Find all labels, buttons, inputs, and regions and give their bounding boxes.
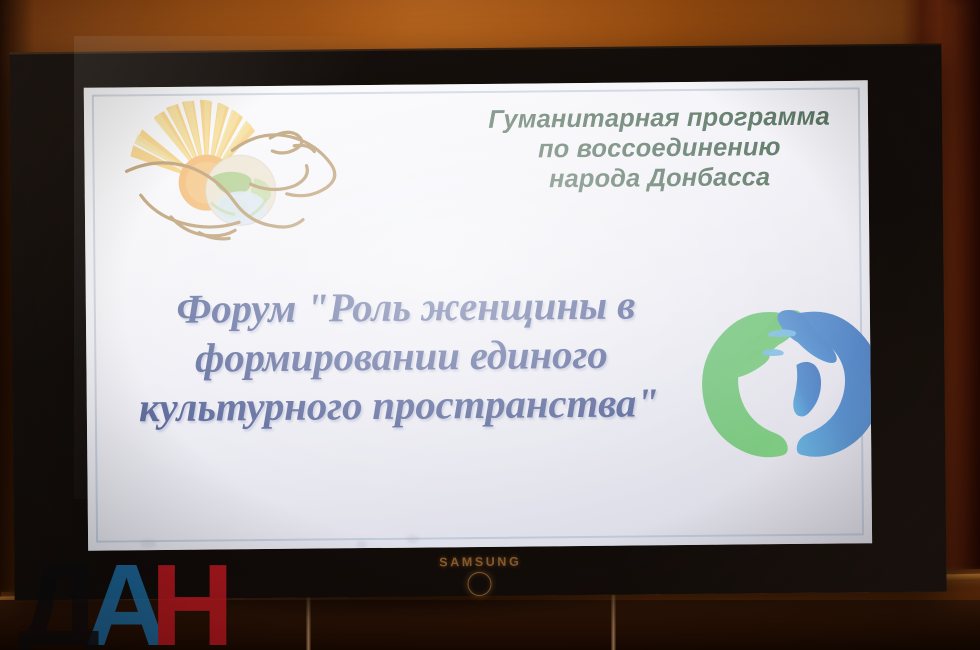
- agency-watermark: ДАН: [18, 556, 228, 650]
- power-ring-icon[interactable]: [467, 572, 491, 596]
- slide-title: Форум "Роль женщины в формировании едино…: [108, 280, 689, 432]
- hands-cradling-globe-logo: [120, 97, 349, 251]
- watermark-letter-n: Н: [150, 556, 228, 650]
- title-line-3: культурного пространства": [109, 378, 689, 432]
- tv-screen: Гуманитарная программа по воссоединению …: [84, 80, 872, 551]
- slide-header-text: Гуманитарная программа по воссоединению …: [470, 102, 849, 195]
- screen-smudge: [406, 535, 419, 544]
- presentation-slide: Гуманитарная программа по воссоединению …: [84, 80, 872, 551]
- curtain-fold: [948, 0, 974, 650]
- photo-scene: Гуманитарная программа по воссоединению …: [0, 0, 980, 650]
- watermark-letter-d: Д: [18, 556, 95, 650]
- two-hands-circle-emblem: [696, 288, 872, 482]
- tv-brand-label: SAMSUNG: [439, 555, 521, 570]
- header-line-2: по воссоединению: [470, 132, 848, 165]
- screen-smudge: [356, 540, 367, 549]
- title-line-1: Форум "Роль женщины в: [108, 280, 688, 334]
- television: Гуманитарная программа по воссоединению …: [9, 44, 946, 601]
- header-line-1: Гуманитарная программа: [470, 102, 848, 135]
- header-line-3: народа Донбасса: [470, 162, 848, 195]
- title-line-2: формировании единого: [108, 329, 688, 383]
